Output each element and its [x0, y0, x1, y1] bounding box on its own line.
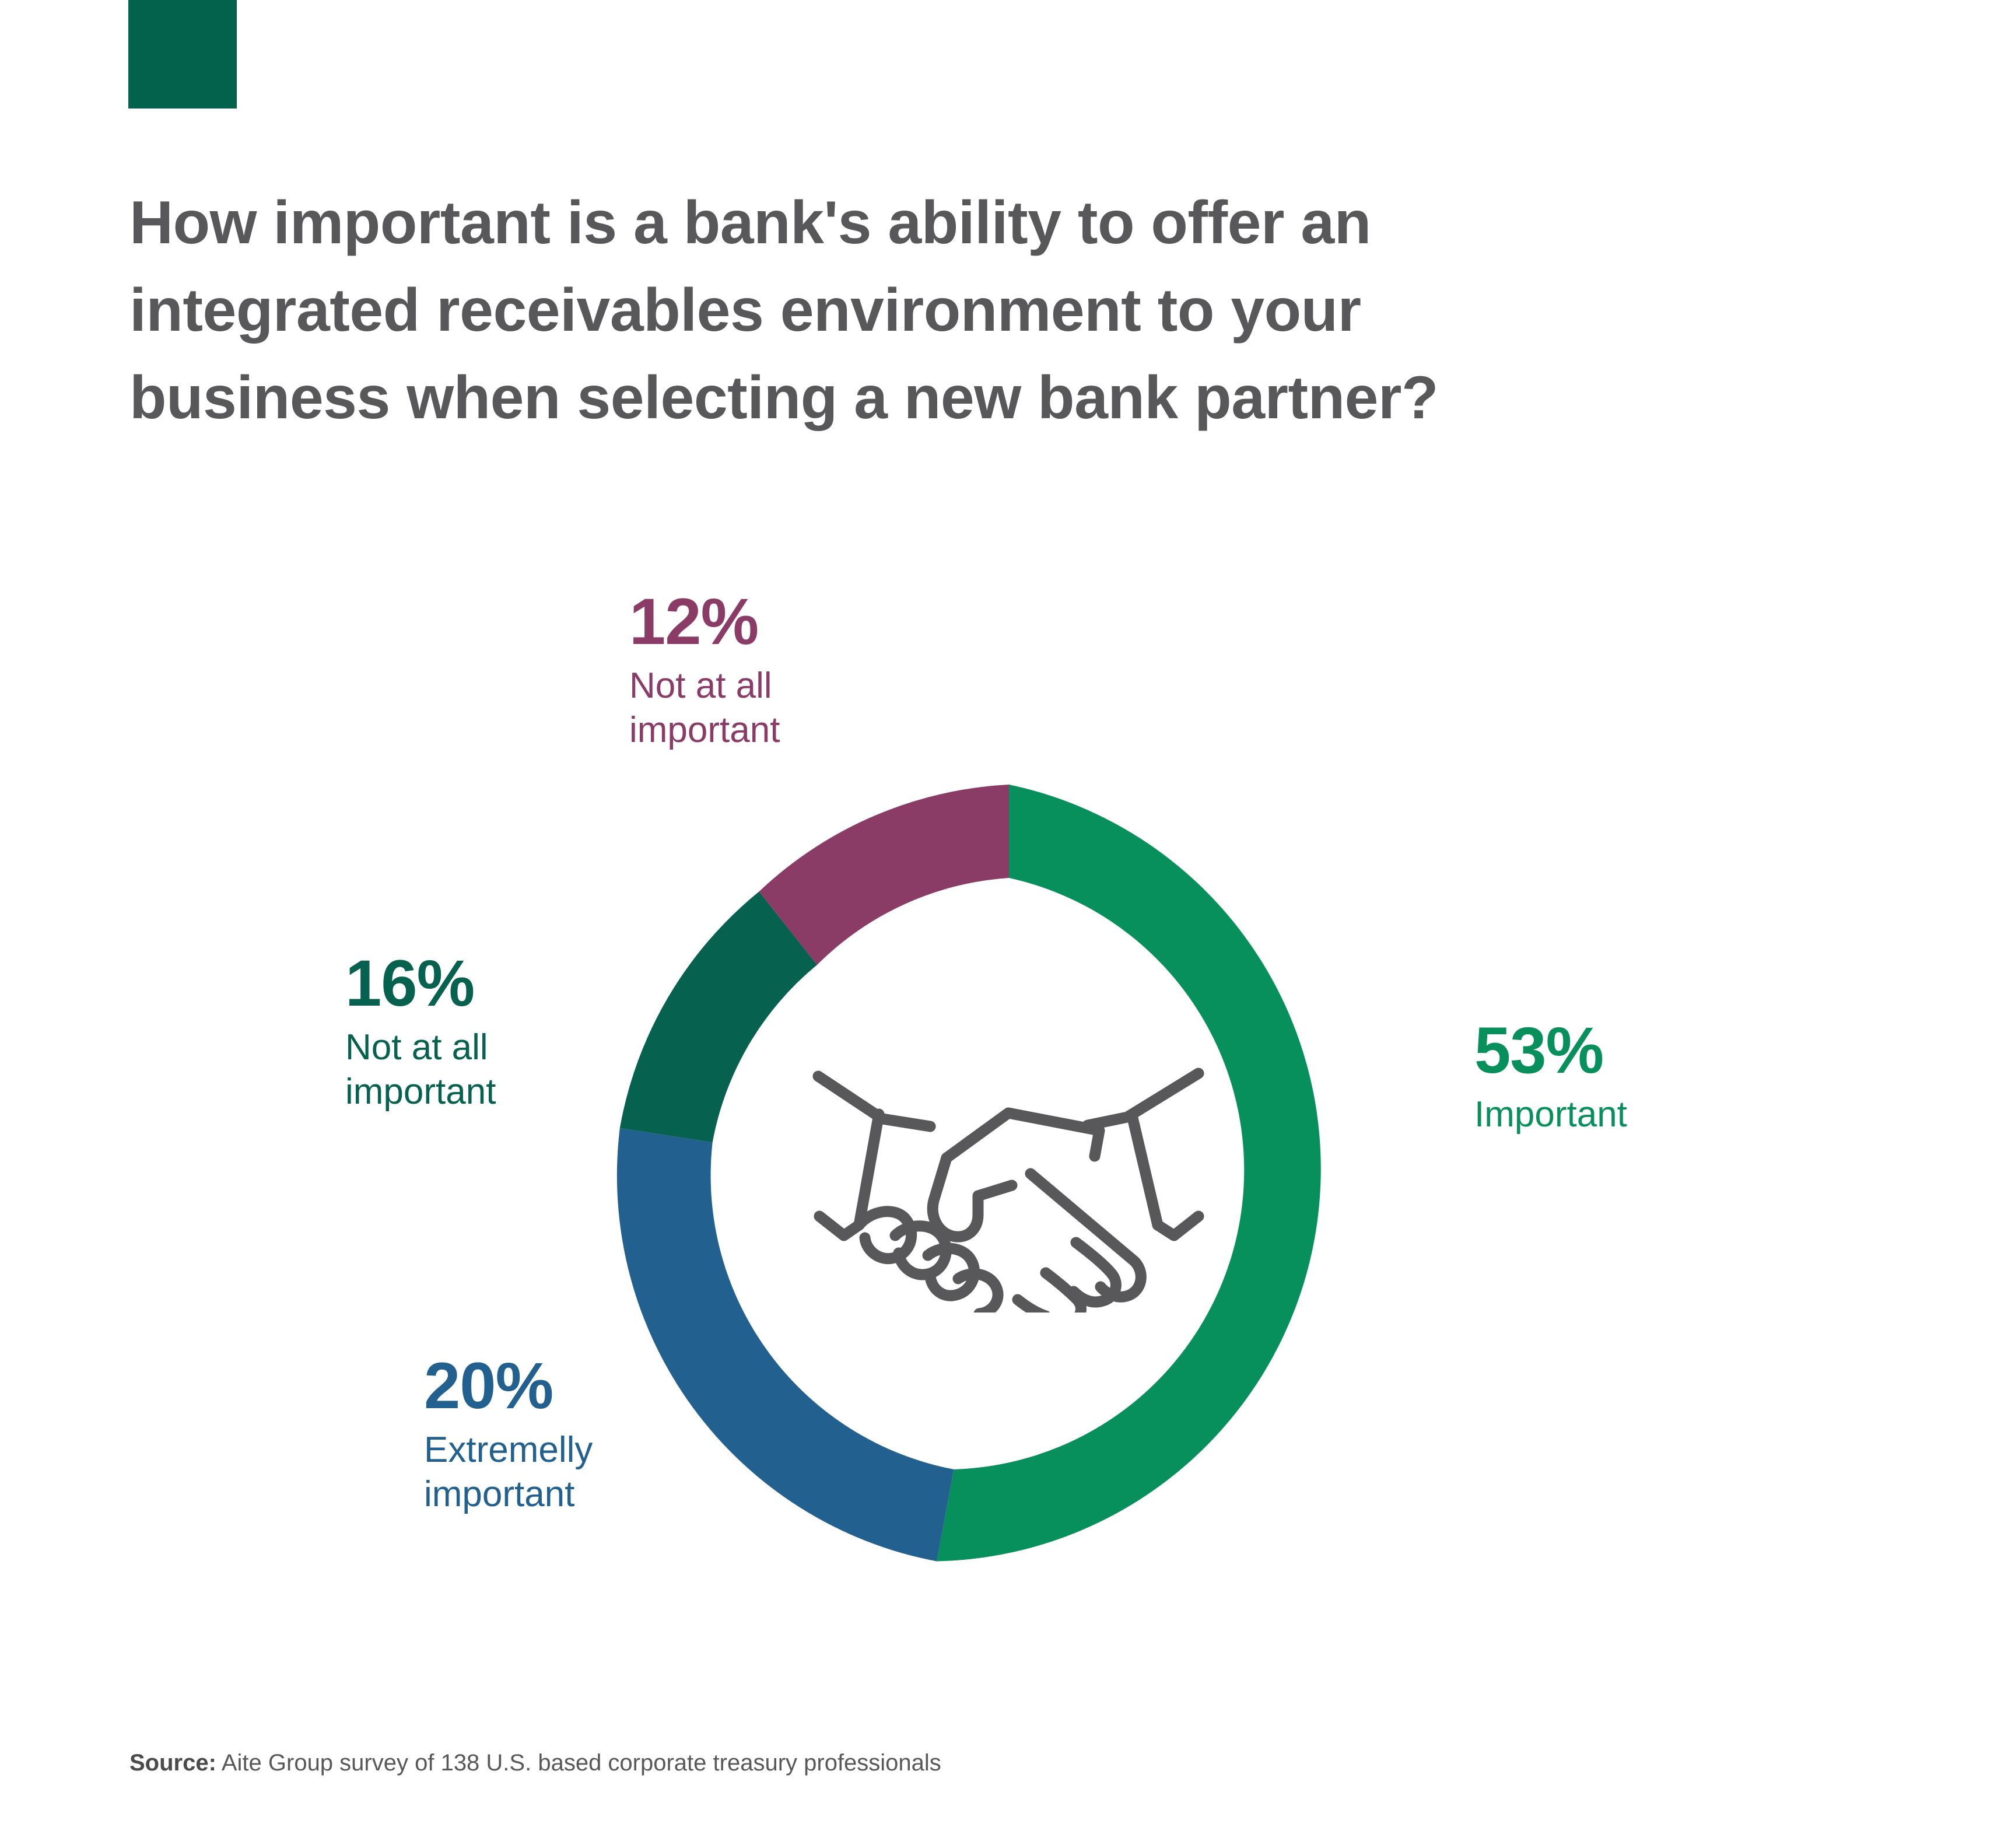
- callout-label: Extremelly important: [424, 1428, 593, 1516]
- donut-segment-not-at-all-12[interactable]: [759, 785, 1010, 965]
- donut-segment-extremely-20[interactable]: [617, 1128, 954, 1562]
- page-title: How important is a bank's ability to off…: [129, 180, 1588, 442]
- donut-chart[interactable]: [616, 785, 1401, 1570]
- source-text: Aite Group survey of 138 U.S. based corp…: [216, 1750, 941, 1776]
- callout-percent: 53%: [1474, 1018, 1627, 1083]
- callout-extremely-important-20: 20% Extremelly important: [424, 1353, 593, 1516]
- infographic-page: How important is a bank's ability to off…: [0, 0, 1994, 1848]
- callout-label: Not at all important: [629, 664, 780, 752]
- callout-percent: 16%: [345, 951, 496, 1016]
- callout-label: Important: [1474, 1093, 1627, 1137]
- callout-label: Not at all important: [345, 1025, 496, 1114]
- brand-square-logo: [128, 0, 237, 108]
- donut-segment-not-at-all-16[interactable]: [620, 891, 817, 1142]
- source-note: Source: Aite Group survey of 138 U.S. ba…: [129, 1749, 941, 1777]
- callout-not-at-all-important-12: 12% Not at all important: [629, 589, 780, 752]
- callout-not-at-all-important-16: 16% Not at all important: [345, 951, 496, 1114]
- callout-percent: 20%: [424, 1353, 593, 1419]
- donut-segment-important-53[interactable]: [937, 785, 1321, 1562]
- callout-percent: 12%: [629, 589, 780, 654]
- callout-important-53: 53% Important: [1474, 1018, 1627, 1137]
- source-label: Source:: [129, 1750, 216, 1776]
